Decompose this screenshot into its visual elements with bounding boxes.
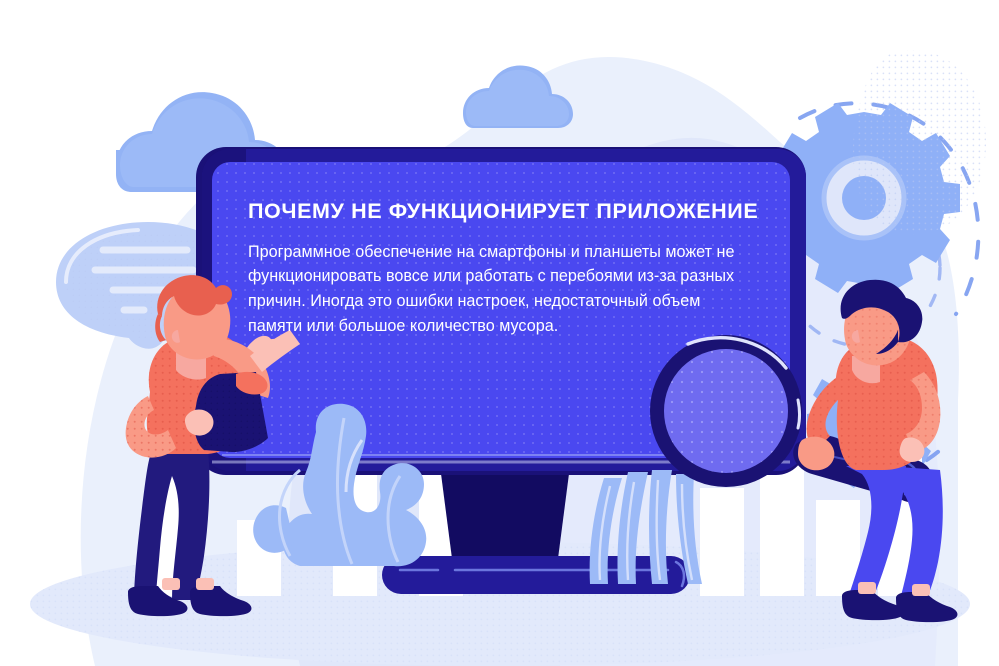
- person-holding-magnifier-icon: [798, 280, 957, 622]
- monitor-base: [382, 556, 690, 594]
- illustration-canvas: ПОЧЕМУ НЕ ФУНКЦИОНИРУЕТ ПРИЛОЖЕНИЕ Прогр…: [0, 0, 999, 666]
- foreground-layer: [0, 0, 999, 666]
- person-left-legs: [134, 450, 209, 600]
